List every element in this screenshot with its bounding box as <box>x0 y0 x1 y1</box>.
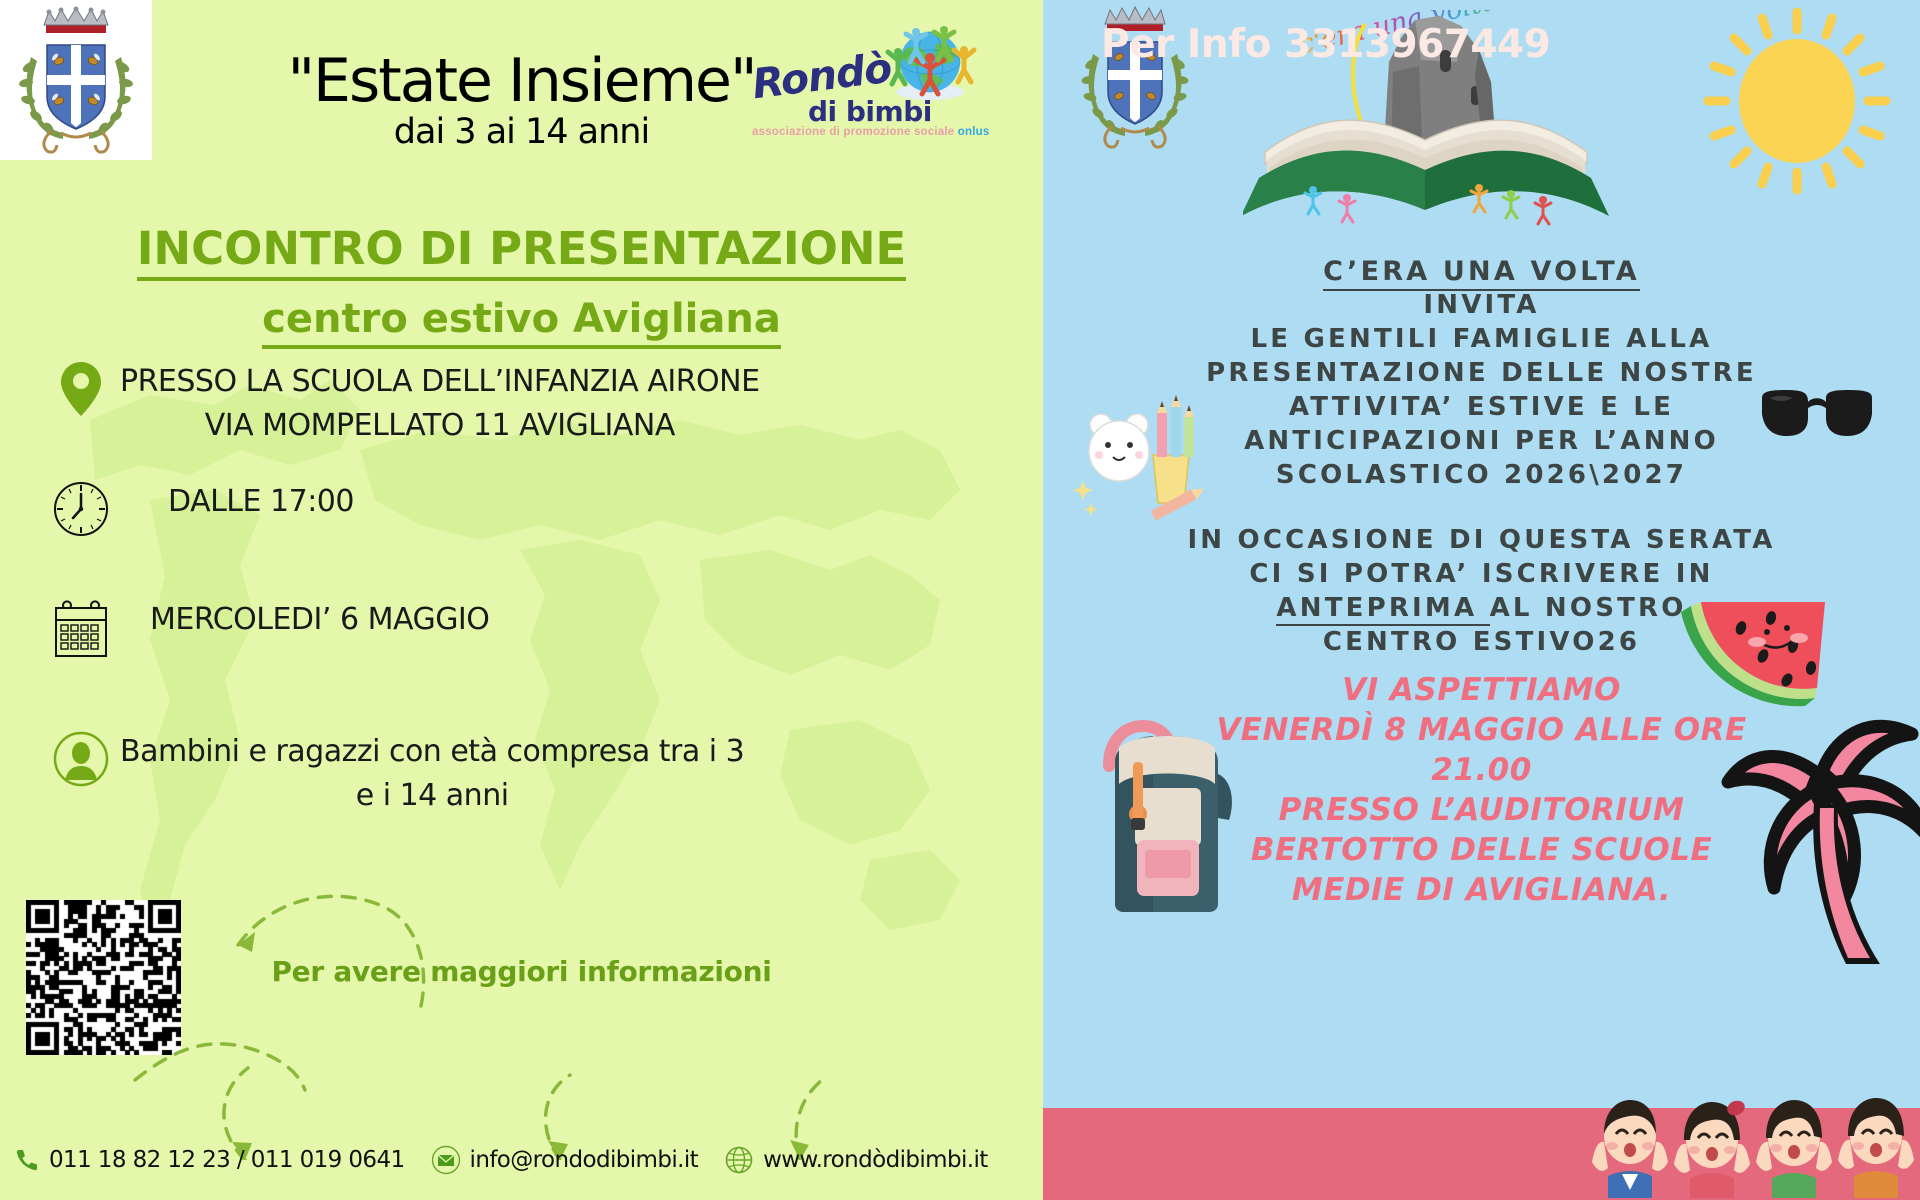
left-poster: Rondò di bimbi associazione di promozion… <box>0 0 1043 1200</box>
calendar-icon <box>42 598 120 660</box>
map-pin-icon <box>42 360 120 418</box>
sun-icon <box>1702 6 1892 196</box>
poster-pair: Rondò di bimbi associazione di promozion… <box>0 0 1920 1200</box>
heading-incontro-text: INCONTRO DI PRESENTAZIONE <box>137 222 907 281</box>
bear-with-pencils-icon <box>1071 385 1211 525</box>
contact-phone[interactable]: 011 18 82 12 23 / 011 019 0641 <box>49 1147 405 1173</box>
contact-email[interactable]: info@rondodibimbi.it <box>470 1147 699 1173</box>
page-subtitle: dai 3 ai 14 anni <box>0 112 1043 152</box>
phone-icon <box>14 1147 40 1173</box>
sunglasses-icon <box>1756 382 1878 454</box>
backpack-icon <box>1081 718 1246 913</box>
location-line-1: PRESSO LA SCUOLA DELL’INFANZIA AIRONE <box>120 360 760 404</box>
audience-line-2: e i 14 anni <box>120 774 744 818</box>
anteprima-underlined: ANTEPRIMA <box>1276 593 1489 626</box>
heading-incontro: INCONTRO DI PRESENTAZIONE <box>0 222 1043 275</box>
dashed-arrows-decoration <box>0 860 1043 1160</box>
right-title: C’ERA UNA VOLTA <box>1043 256 1920 287</box>
heading-centro-estivo: centro estivo Avigliana <box>0 296 1043 342</box>
right-poster: c'era una volta <box>1043 0 1920 1200</box>
contact-website[interactable]: www.rondòdibimbi.it <box>763 1147 988 1173</box>
location-text: PRESSO LA SCUOLA DELL’INFANZIA AIRONE VI… <box>120 360 760 447</box>
info-row-time: DALLE 17:00 <box>42 480 1002 538</box>
contact-bar: 011 18 82 12 23 / 011 019 0641 info@rond… <box>14 1135 1034 1185</box>
footer-info-label[interactable]: Per Info 3313967449 <box>1101 22 1550 67</box>
info-row-date: MERCOLEDI’ 6 MAGGIO <box>42 598 1002 660</box>
right-line-famiglie: LE GENTILI FAMIGLIE ALLA <box>1043 324 1920 354</box>
page-title: "Estate Insieme" <box>0 46 1043 116</box>
right-line-invita: INVITA <box>1043 290 1920 320</box>
audience-text: Bambini e ragazzi con età compresa tra i… <box>120 730 744 817</box>
heading-centro-estivo-text: centro estivo Avigliana <box>262 296 781 349</box>
audience-line-1: Bambini e ragazzi con età compresa tra i… <box>120 730 744 774</box>
palm-tree-icon <box>1710 712 1920 972</box>
location-line-2: VIA MOMPELLATO 11 AVIGLIANA <box>120 404 760 448</box>
info-row-audience: Bambini e ragazzi con età compresa tra i… <box>42 730 1002 817</box>
anteprima-rest: AL NOSTRO <box>1490 593 1687 623</box>
watermelon-slice-icon <box>1675 602 1825 712</box>
info-row-location: PRESSO LA SCUOLA DELL’INFANZIA AIRONE VI… <box>42 360 1002 447</box>
clock-icon <box>42 480 120 538</box>
envelope-icon <box>431 1145 461 1175</box>
time-text: DALLE 17:00 <box>120 480 354 524</box>
person-icon <box>42 730 120 788</box>
globe-icon <box>724 1145 754 1175</box>
right-line-iscrivere: CI SI POTRA’ ISCRIVERE IN <box>1043 559 1920 589</box>
right-title-text: C’ERA UNA VOLTA <box>1323 256 1640 291</box>
date-text: MERCOLEDI’ 6 MAGGIO <box>120 598 489 642</box>
shouting-children-icon <box>1590 1090 1920 1200</box>
right-line-occasione: IN OCCASIONE DI QUESTA SERATA <box>1043 525 1920 555</box>
